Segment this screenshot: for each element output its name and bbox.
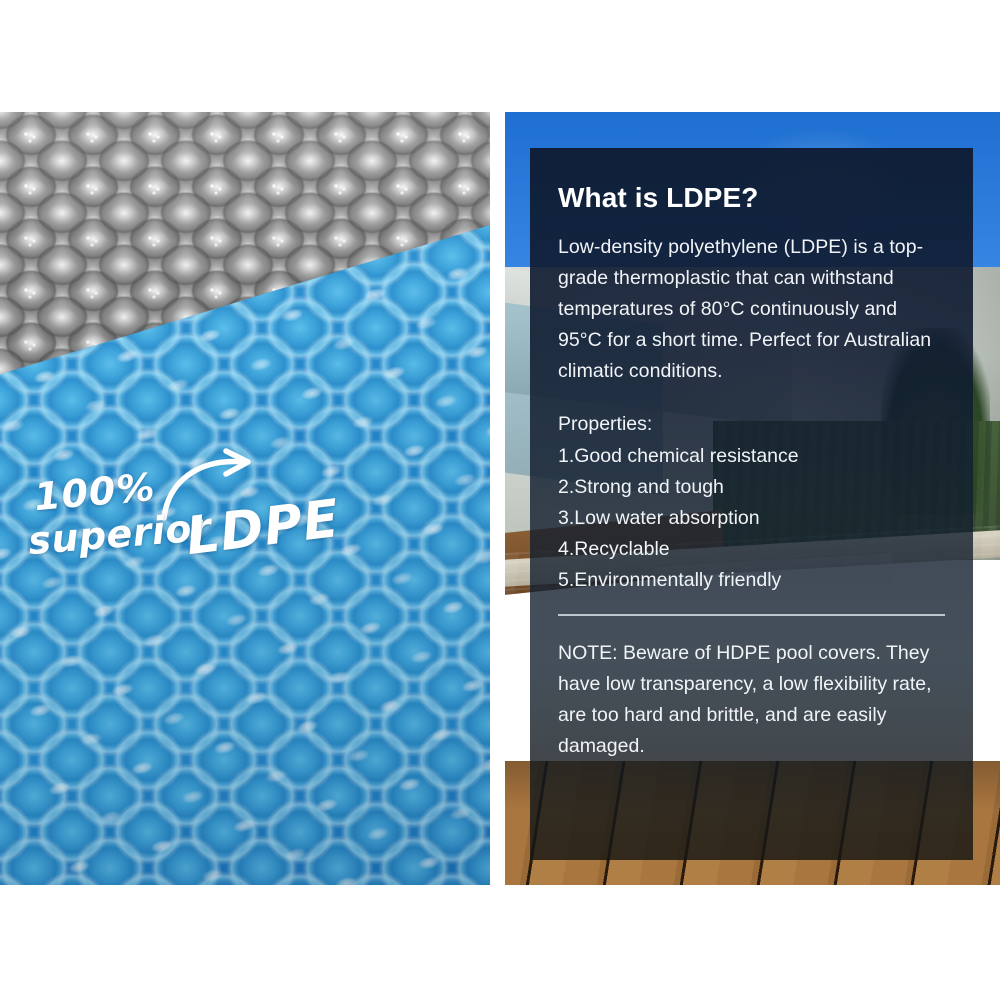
list-item: 3. Low water absorption <box>558 503 945 534</box>
properties-heading: Properties: <box>558 409 945 439</box>
list-item-label: Good chemical resistance <box>574 441 798 472</box>
overlay-note: NOTE: Beware of HDPE pool covers. They h… <box>558 638 945 762</box>
list-item-label: Strong and tough <box>574 472 724 503</box>
list-item-number: 5. <box>558 565 574 596</box>
list-item: 2. Strong and tough <box>558 472 945 503</box>
info-overlay-panel: What is LDPE? Low-density polyethylene (… <box>530 148 973 860</box>
list-item-number: 3. <box>558 503 574 534</box>
list-item-label: Recyclable <box>574 534 669 565</box>
list-item: 4. Recyclable <box>558 534 945 565</box>
overlay-title: What is LDPE? <box>558 182 945 214</box>
list-item-number: 4. <box>558 534 574 565</box>
left-photo-panel: 100% superior LDPE <box>0 112 490 885</box>
list-item: 5. Environmentally friendly <box>558 565 945 596</box>
list-item-label: Low water absorption <box>574 503 759 534</box>
properties-list: 1. Good chemical resistance 2. Strong an… <box>558 441 945 596</box>
right-photo-panel: What is LDPE? Low-density polyethylene (… <box>505 112 1000 885</box>
list-item: 1. Good chemical resistance <box>558 441 945 472</box>
list-item-number: 1. <box>558 441 574 472</box>
section-divider <box>558 614 945 616</box>
list-item-number: 2. <box>558 472 574 503</box>
list-item-label: Environmentally friendly <box>574 565 781 596</box>
overlay-paragraph: Low-density polyethylene (LDPE) is a top… <box>558 232 945 387</box>
infographic-canvas: 100% superior LDPE What is LDPE? Low-den… <box>0 0 1000 1000</box>
